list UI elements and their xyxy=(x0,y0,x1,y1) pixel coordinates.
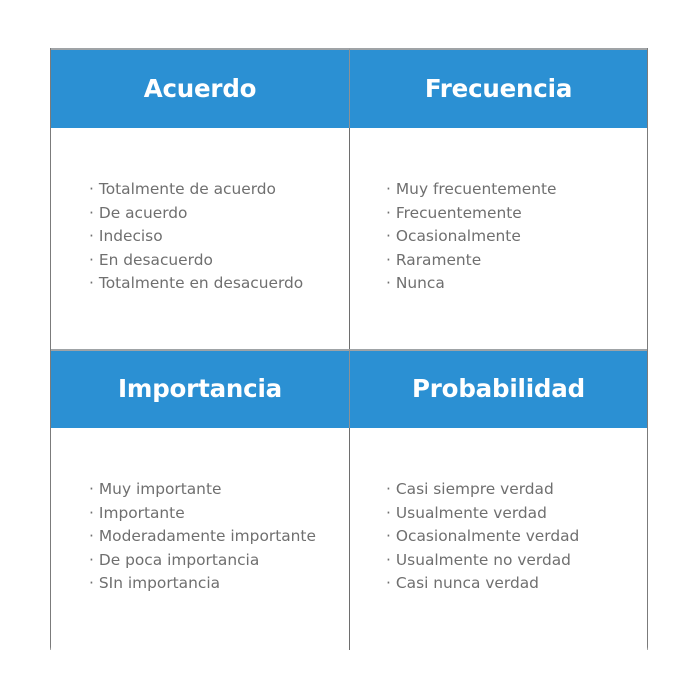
bullet-icon: · xyxy=(386,478,391,502)
bullet-icon: · xyxy=(386,225,391,249)
page-canvas: Acuerdo Frecuencia · Totalmente de acuer… xyxy=(0,0,700,700)
list-item: · De poca importancia xyxy=(89,549,349,573)
header-title-acuerdo: Acuerdo xyxy=(144,77,257,102)
bullet-icon: · xyxy=(386,502,391,526)
list-item: · En desacuerdo xyxy=(89,249,349,273)
option-list-acuerdo: · Totalmente de acuerdo · De acuerdo · I… xyxy=(89,178,349,296)
bullet-icon: · xyxy=(89,549,94,573)
header-cell-importancia: Importancia xyxy=(51,349,349,428)
list-item: · Muy importante xyxy=(89,478,349,502)
bullet-icon: · xyxy=(386,549,391,573)
bullet-icon: · xyxy=(89,202,94,226)
option-label: Importante xyxy=(99,502,185,526)
option-label: Nunca xyxy=(396,272,445,296)
list-item: · Totalmente de acuerdo xyxy=(89,178,349,202)
option-list-importancia: · Muy importante · Importante · Moderada… xyxy=(89,478,349,596)
list-item: · Moderadamente importante xyxy=(89,525,349,549)
option-label: Muy importante xyxy=(99,478,222,502)
option-label: Ocasionalmente verdad xyxy=(396,525,579,549)
body-cell-importancia: · Muy importante · Importante · Moderada… xyxy=(51,428,349,650)
bullet-icon: · xyxy=(89,272,94,296)
bullet-icon: · xyxy=(89,572,94,596)
header-title-importancia: Importancia xyxy=(118,377,282,402)
option-label: Casi siempre verdad xyxy=(396,478,554,502)
option-label: Muy frecuentemente xyxy=(396,178,557,202)
option-label: Casi nunca verdad xyxy=(396,572,539,596)
bullet-icon: · xyxy=(386,249,391,273)
header-cell-acuerdo: Acuerdo xyxy=(51,48,349,128)
bullet-icon: · xyxy=(89,178,94,202)
option-label: Indeciso xyxy=(99,225,163,249)
bullet-icon: · xyxy=(89,249,94,273)
body-cell-frecuencia: · Muy frecuentemente · Frecuentemente · … xyxy=(349,128,647,349)
header-cell-probabilidad: Probabilidad xyxy=(349,349,647,428)
list-item: · Ocasionalmente verdad xyxy=(386,525,647,549)
list-item: · Usualmente verdad xyxy=(386,502,647,526)
bullet-icon: · xyxy=(386,525,391,549)
list-item: · Muy frecuentemente xyxy=(386,178,647,202)
list-item: · De acuerdo xyxy=(89,202,349,226)
list-item: · Indeciso xyxy=(89,225,349,249)
list-item: · Ocasionalmente xyxy=(386,225,647,249)
bullet-icon: · xyxy=(386,272,391,296)
likert-scales-table: Acuerdo Frecuencia · Totalmente de acuer… xyxy=(50,48,648,650)
list-item: · Usualmente no verdad xyxy=(386,549,647,573)
option-label: Usualmente verdad xyxy=(396,502,547,526)
list-item: · Casi siempre verdad xyxy=(386,478,647,502)
body-cell-acuerdo: · Totalmente de acuerdo · De acuerdo · I… xyxy=(51,128,349,349)
option-label: De poca importancia xyxy=(99,549,259,573)
header-title-probabilidad: Probabilidad xyxy=(412,377,585,402)
option-label: SIn importancia xyxy=(99,572,220,596)
bullet-icon: · xyxy=(89,502,94,526)
option-list-frecuencia: · Muy frecuentemente · Frecuentemente · … xyxy=(386,178,647,296)
bullet-icon: · xyxy=(386,178,391,202)
option-label: En desacuerdo xyxy=(99,249,213,273)
body-cell-probabilidad: · Casi siempre verdad · Usualmente verda… xyxy=(349,428,647,650)
option-label: Totalmente en desacuerdo xyxy=(99,272,303,296)
bullet-icon: · xyxy=(89,525,94,549)
list-item: · Casi nunca verdad xyxy=(386,572,647,596)
list-item: · Importante xyxy=(89,502,349,526)
bullet-icon: · xyxy=(386,202,391,226)
option-label: Ocasionalmente xyxy=(396,225,521,249)
option-label: Totalmente de acuerdo xyxy=(99,178,276,202)
list-item: · Frecuentemente xyxy=(386,202,647,226)
option-label: Moderadamente importante xyxy=(99,525,316,549)
option-list-probabilidad: · Casi siempre verdad · Usualmente verda… xyxy=(386,478,647,596)
bullet-icon: · xyxy=(89,225,94,249)
bullet-icon: · xyxy=(386,572,391,596)
option-label: Raramente xyxy=(396,249,481,273)
header-cell-frecuencia: Frecuencia xyxy=(349,48,647,128)
list-item: · Raramente xyxy=(386,249,647,273)
option-label: Frecuentemente xyxy=(396,202,522,226)
bullet-icon: · xyxy=(89,478,94,502)
option-label: Usualmente no verdad xyxy=(396,549,571,573)
list-item: · SIn importancia xyxy=(89,572,349,596)
option-label: De acuerdo xyxy=(99,202,188,226)
header-title-frecuencia: Frecuencia xyxy=(425,77,572,102)
list-item: · Nunca xyxy=(386,272,647,296)
list-item: · Totalmente en desacuerdo xyxy=(89,272,349,296)
